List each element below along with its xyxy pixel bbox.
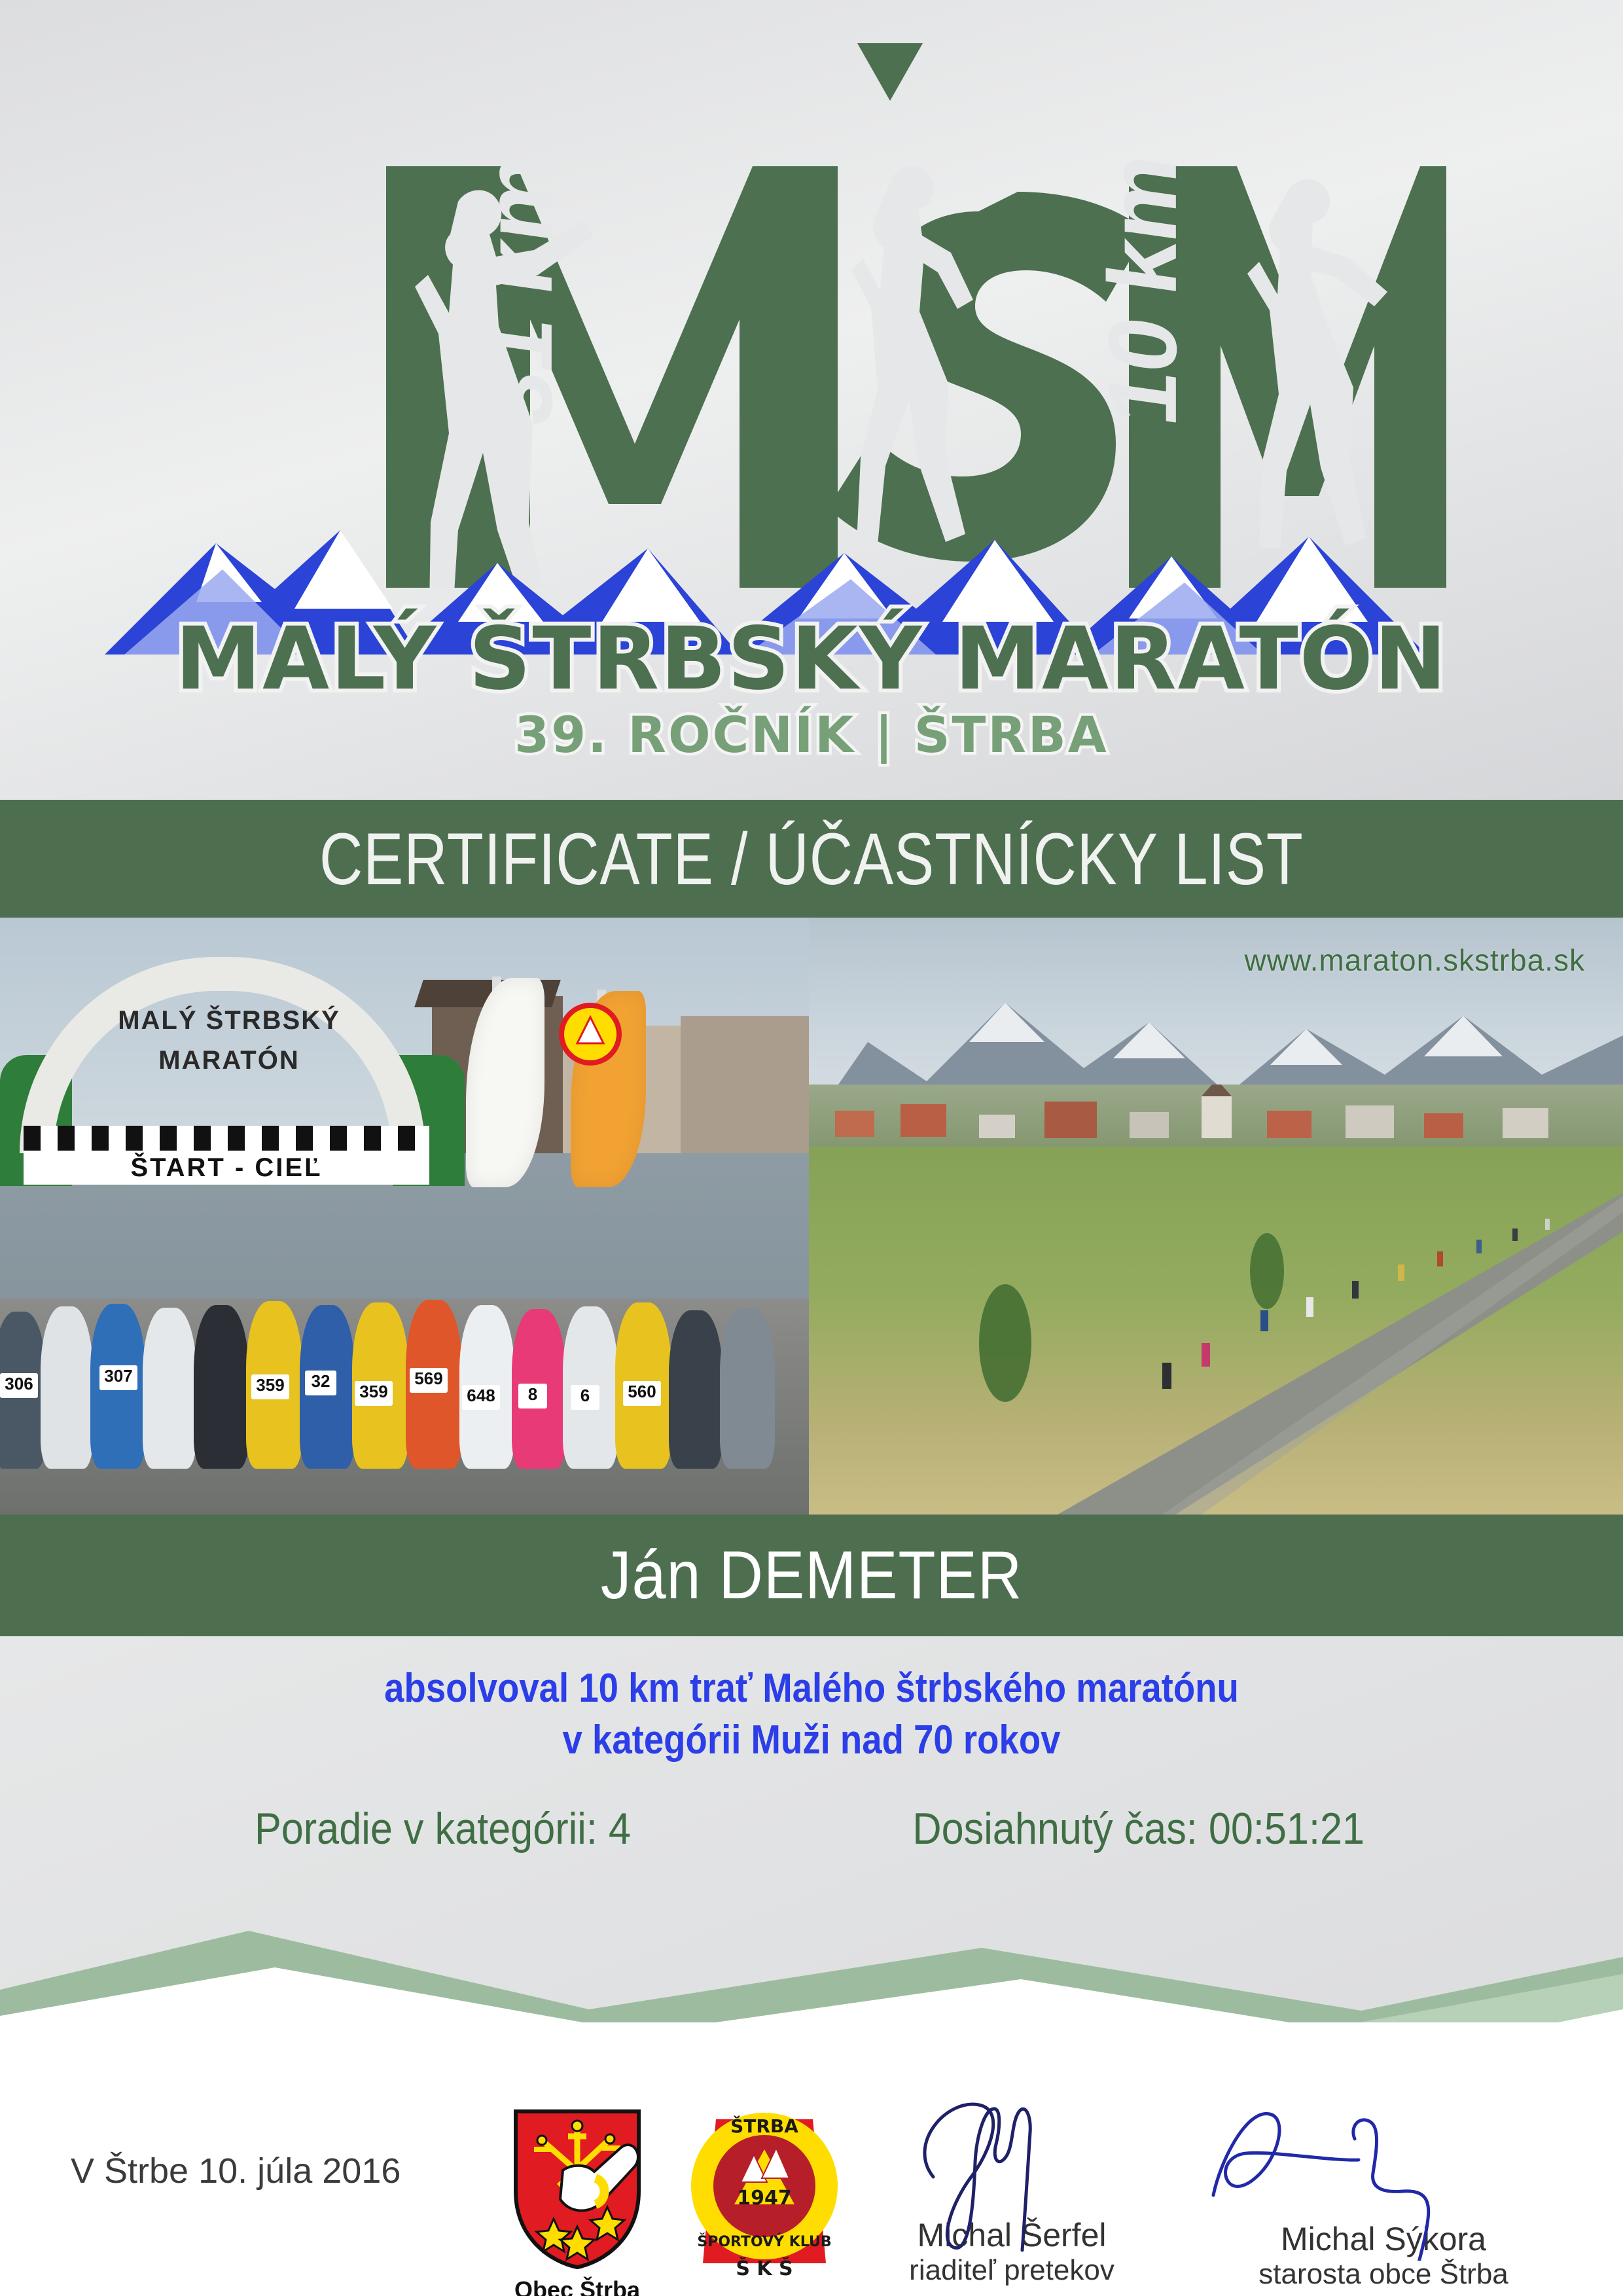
- field-area: [809, 1147, 1623, 1515]
- photo-strip: MALÝ ŠTRBSKÝ MARATÓN ŠTART - CIEĽ: [0, 918, 1623, 1515]
- participant-name: Ján DEMETER: [601, 1537, 1022, 1615]
- signature-scrawl-icon: [855, 2085, 1130, 2255]
- certificate-title-bar: CERTIFICATE / ÚČASTNÍCKY LIST: [0, 800, 1623, 918]
- certificate-page: 31 km 10 km MALÝ ŠTRBSKÝ MARATÓN 39. ROČ…: [0, 0, 1623, 2296]
- runner: [720, 1308, 775, 1469]
- signature-role: starosta obce Štrba: [1220, 2258, 1547, 2291]
- start-finish-banner: ŠTART - CIEĽ: [24, 1151, 429, 1185]
- time-label: Dosiahnutý čas:: [912, 1804, 1197, 1854]
- distance-right-label: 10 km: [1088, 148, 1199, 432]
- obec-strba-crest-icon: [512, 2108, 643, 2271]
- signature-block-mayor: Michal Sýkora starosta obce Štrba: [1220, 2220, 1547, 2291]
- msm-letters-icon: [177, 38, 1446, 588]
- time-result: Dosiahnutý čas: 00:51:21: [912, 1803, 1364, 1854]
- rank-result: Poradie v kategórii: 4: [255, 1803, 631, 1854]
- runner: [194, 1305, 249, 1469]
- certificate-footer: V Štrbe 10. júla 2016 Obec Štrba: [0, 2022, 1623, 2296]
- building: [681, 1016, 809, 1153]
- club-arc-text: ŠPORTOVÝ KLUB: [697, 2233, 831, 2250]
- runner: [41, 1306, 93, 1469]
- sks-club-logo-icon: ŠTRBA 1947 ŠPORTOVÝ KLUB Š K Š: [686, 2100, 843, 2283]
- achievement-description: absolvoval 10 km trať Malého štrbského m…: [98, 1662, 1525, 1767]
- signature-block-director: Michal Šerfel riaditeľ pretekov: [861, 2216, 1162, 2287]
- participant-name-bar: Ján DEMETER: [0, 1515, 1623, 1636]
- time-value: 00:51:21: [1209, 1804, 1364, 1854]
- website-url[interactable]: www.maraton.skstrba.sk: [1245, 942, 1585, 978]
- certificate-body: absolvoval 10 km trať Malého štrbského m…: [0, 1636, 1623, 1924]
- issue-date: V Štrbe 10. júla 2016: [71, 2151, 401, 2191]
- club-top-text: ŠTRBA: [730, 2115, 798, 2137]
- rank-value: 4: [609, 1804, 631, 1854]
- msm-logo: 31 km 10 km: [177, 38, 1446, 588]
- club-abbr: Š K Š: [736, 2256, 793, 2280]
- running-road-icon: [809, 1147, 1623, 1515]
- distance-left-label: 31 km: [463, 148, 575, 432]
- rank-label: Poradie v kategórii:: [255, 1804, 597, 1854]
- certificate-title: CERTIFICATE / ÚČASTNÍCKY LIST: [319, 817, 1304, 901]
- event-subtitle: 39. ROČNÍK | ŠTRBA: [0, 706, 1623, 764]
- event-title: MALÝ ŠTRBSKÝ MARATÓN: [0, 609, 1623, 709]
- results-row: Poradie v kategórii: 4 Dosiahnutý čas: 0…: [0, 1803, 1623, 1854]
- landscape-photo: www.maraton.skstrba.sk: [809, 918, 1623, 1515]
- runner: [669, 1310, 722, 1469]
- header-logo-area: 31 km 10 km MALÝ ŠTRBSKÝ MARATÓN 39. ROČ…: [0, 0, 1623, 800]
- arch-text-line1: MALÝ ŠTRBSKÝ: [98, 1006, 360, 1035]
- arch-text-line2: MARATÓN: [98, 1046, 360, 1075]
- municipality-label: Obec Štrba: [486, 2276, 669, 2296]
- description-line-2: v kategórii Muži nad 70 rokov: [98, 1714, 1525, 1766]
- runner: [143, 1308, 196, 1469]
- sks-flag-emblem-icon: [558, 1001, 623, 1067]
- start-line-photo: MALÝ ŠTRBSKÝ MARATÓN ŠTART - CIEĽ: [0, 918, 809, 1515]
- signature-role: riaditeľ pretekov: [861, 2254, 1162, 2287]
- signature-scrawl-icon: [1200, 2090, 1501, 2261]
- description-line-1: absolvoval 10 km trať Malého štrbského m…: [98, 1662, 1525, 1714]
- club-year: 1947: [737, 2187, 792, 2210]
- checkered-band: [24, 1126, 429, 1151]
